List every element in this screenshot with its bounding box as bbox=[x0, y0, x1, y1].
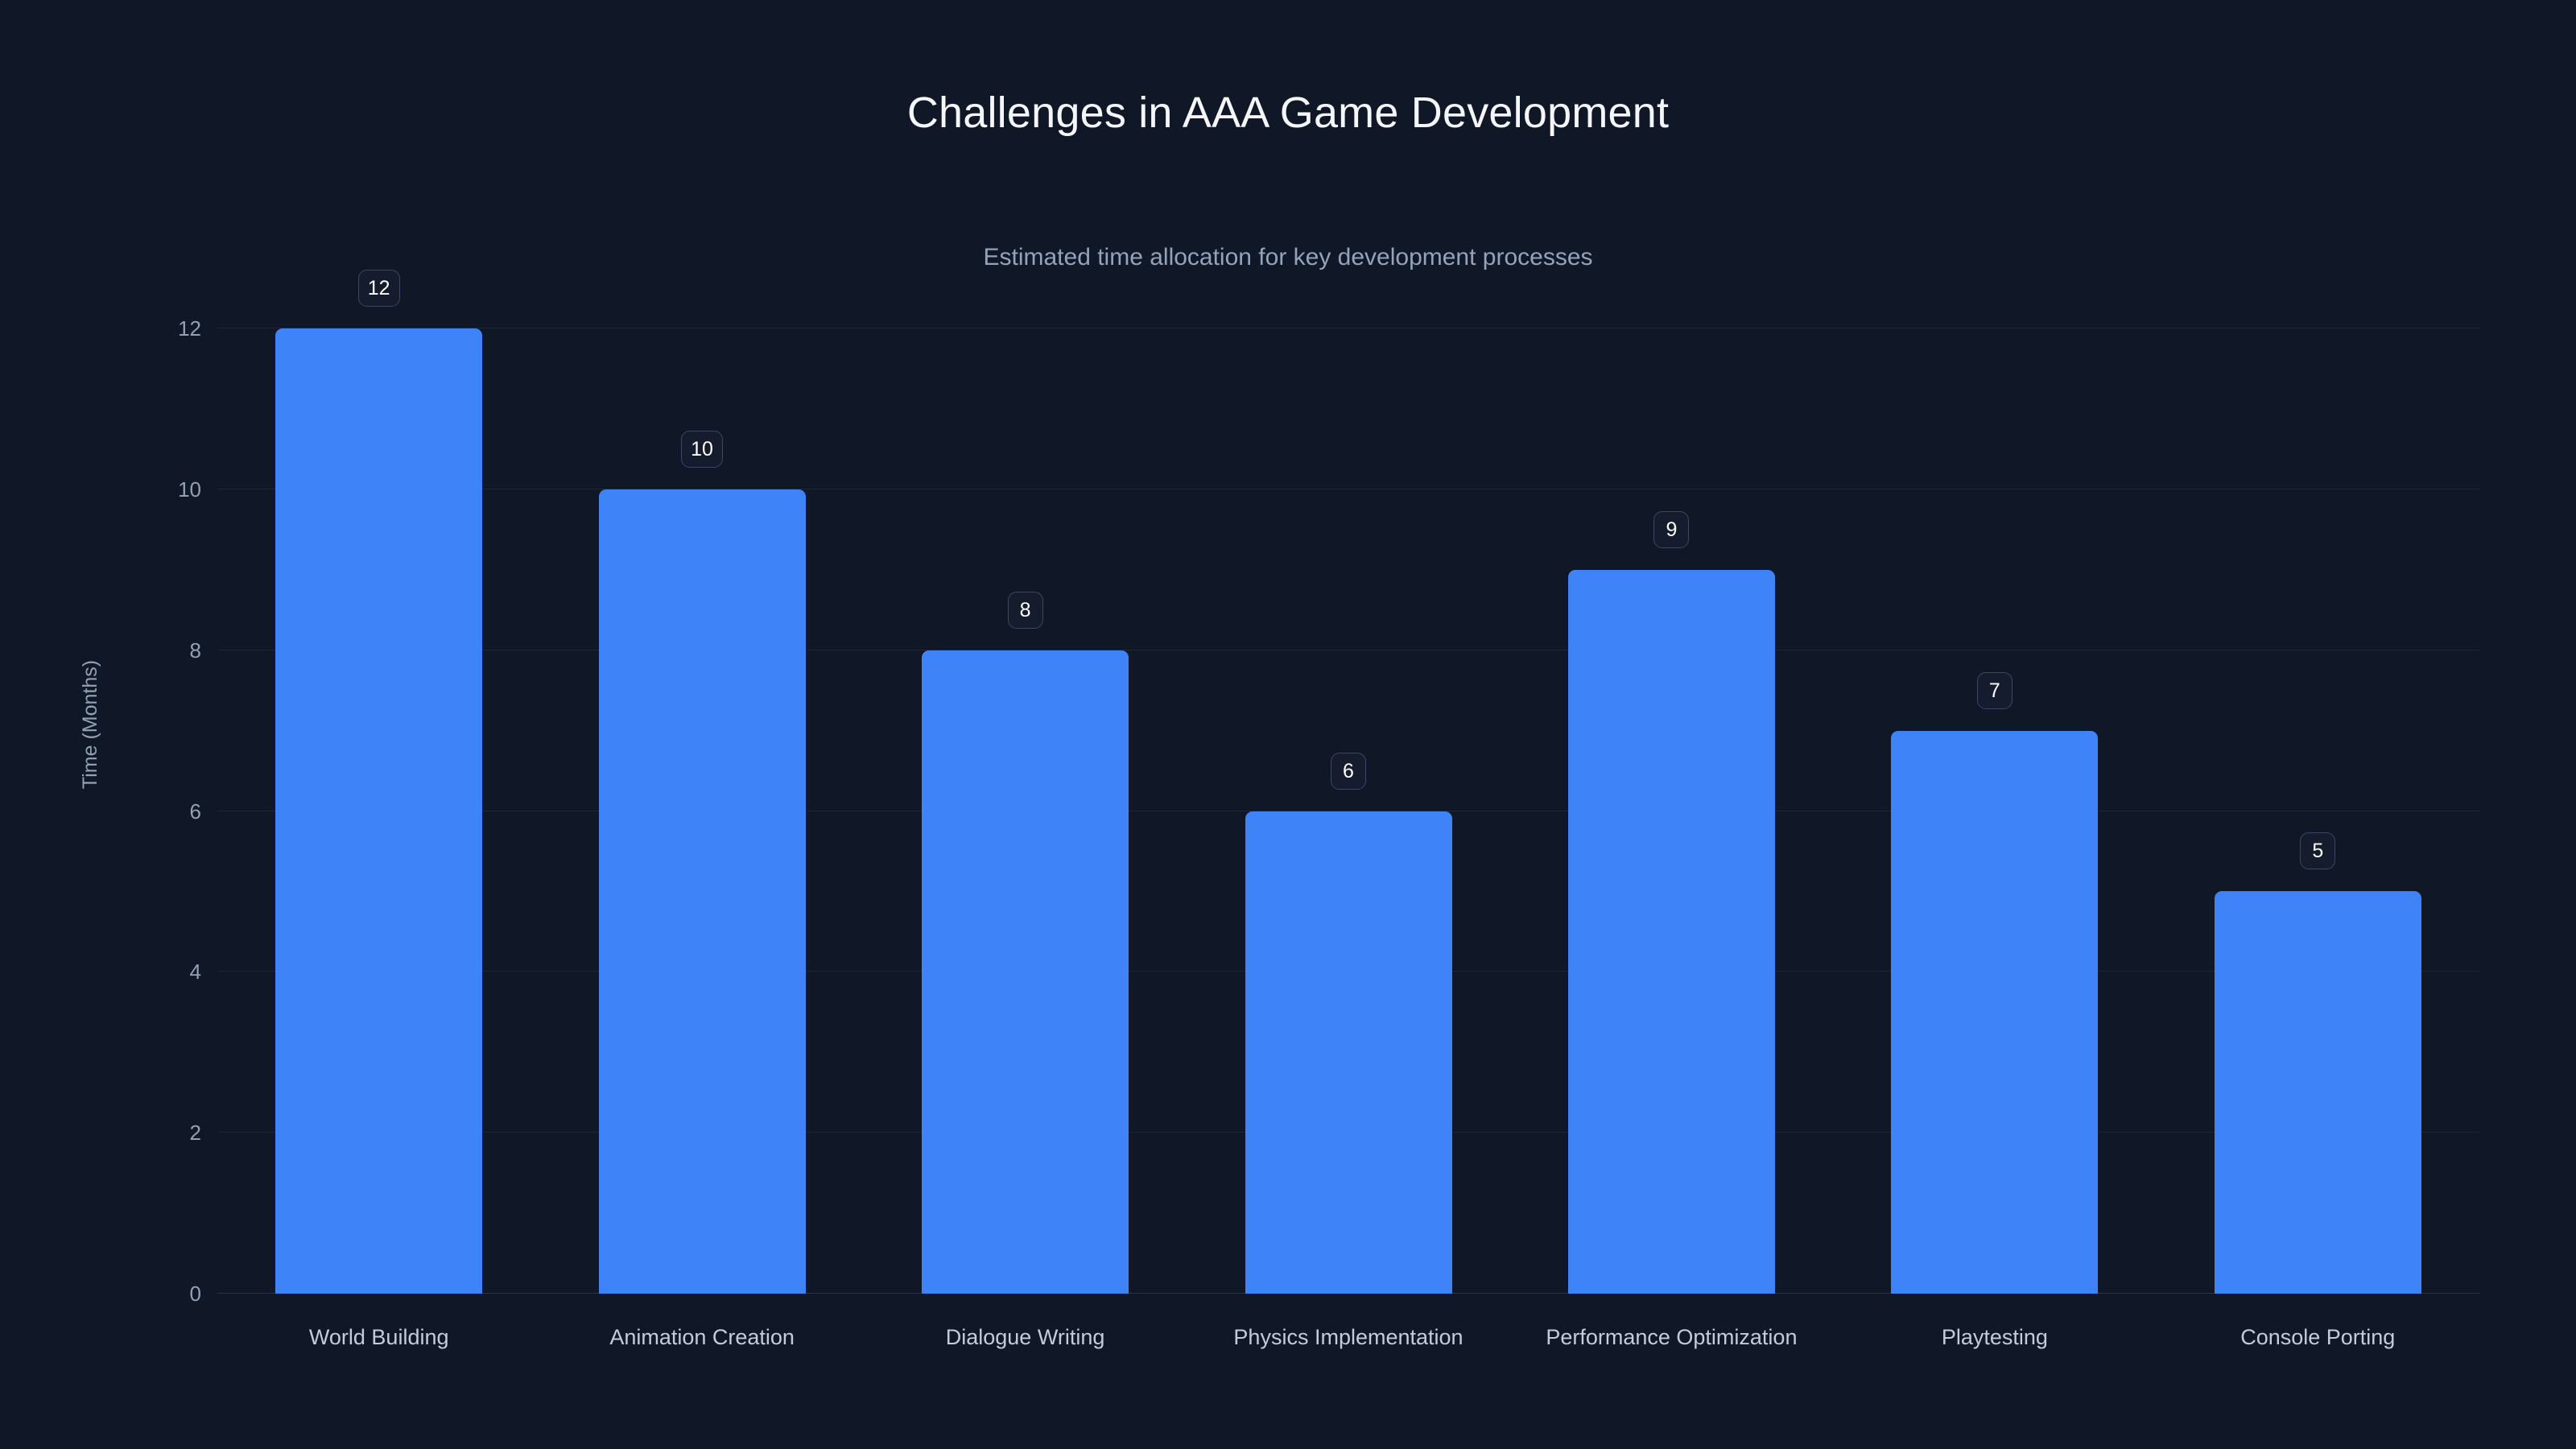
y-axis-tick-label: 0 bbox=[24, 1283, 201, 1304]
bar[interactable] bbox=[599, 489, 806, 1294]
bar[interactable] bbox=[275, 328, 482, 1294]
x-axis-tick-label: World Building bbox=[217, 1327, 540, 1348]
gridline bbox=[217, 328, 2479, 328]
value-label-badge: 6 bbox=[1331, 753, 1366, 790]
value-label-badge: 10 bbox=[681, 431, 723, 468]
bar[interactable] bbox=[1245, 811, 1452, 1294]
gridline bbox=[217, 489, 2479, 489]
x-axis-tick-label: Playtesting bbox=[1833, 1327, 2156, 1348]
x-axis-tick-label: Console Porting bbox=[2157, 1327, 2479, 1348]
y-axis-tick-label: 4 bbox=[24, 961, 201, 982]
value-label-badge: 5 bbox=[2300, 832, 2335, 869]
gridline bbox=[217, 650, 2479, 650]
y-axis-title: Time (Months) bbox=[80, 563, 101, 885]
page-title: Challenges in AAA Game Development bbox=[0, 91, 2576, 134]
x-axis-tick-label: Physics Implementation bbox=[1187, 1327, 1509, 1348]
y-axis-tick-label: 10 bbox=[24, 479, 201, 500]
y-axis-tick-label: 12 bbox=[24, 318, 201, 339]
chart-subtitle: Estimated time allocation for key develo… bbox=[0, 246, 2576, 270]
y-axis-tick-label: 6 bbox=[24, 801, 201, 822]
x-axis-tick-label: Dialogue Writing bbox=[864, 1327, 1187, 1348]
value-label-badge: 12 bbox=[358, 270, 400, 307]
plot-area bbox=[217, 328, 2479, 1294]
value-label-badge: 7 bbox=[1977, 672, 2013, 709]
bar[interactable] bbox=[922, 650, 1129, 1294]
x-axis-tick-label: Performance Optimization bbox=[1510, 1327, 1833, 1348]
value-label-badge: 8 bbox=[1008, 592, 1043, 629]
bar[interactable] bbox=[1891, 731, 2098, 1294]
value-label-badge: 9 bbox=[1653, 511, 1689, 548]
x-axis-tick-label: Animation Creation bbox=[540, 1327, 863, 1348]
bar[interactable] bbox=[2215, 891, 2421, 1294]
y-axis-tick-label: 2 bbox=[24, 1122, 201, 1143]
bar[interactable] bbox=[1568, 570, 1775, 1294]
y-axis-tick-label: 8 bbox=[24, 640, 201, 661]
bar-chart: Challenges in AAA Game Development Estim… bbox=[0, 0, 2576, 1449]
